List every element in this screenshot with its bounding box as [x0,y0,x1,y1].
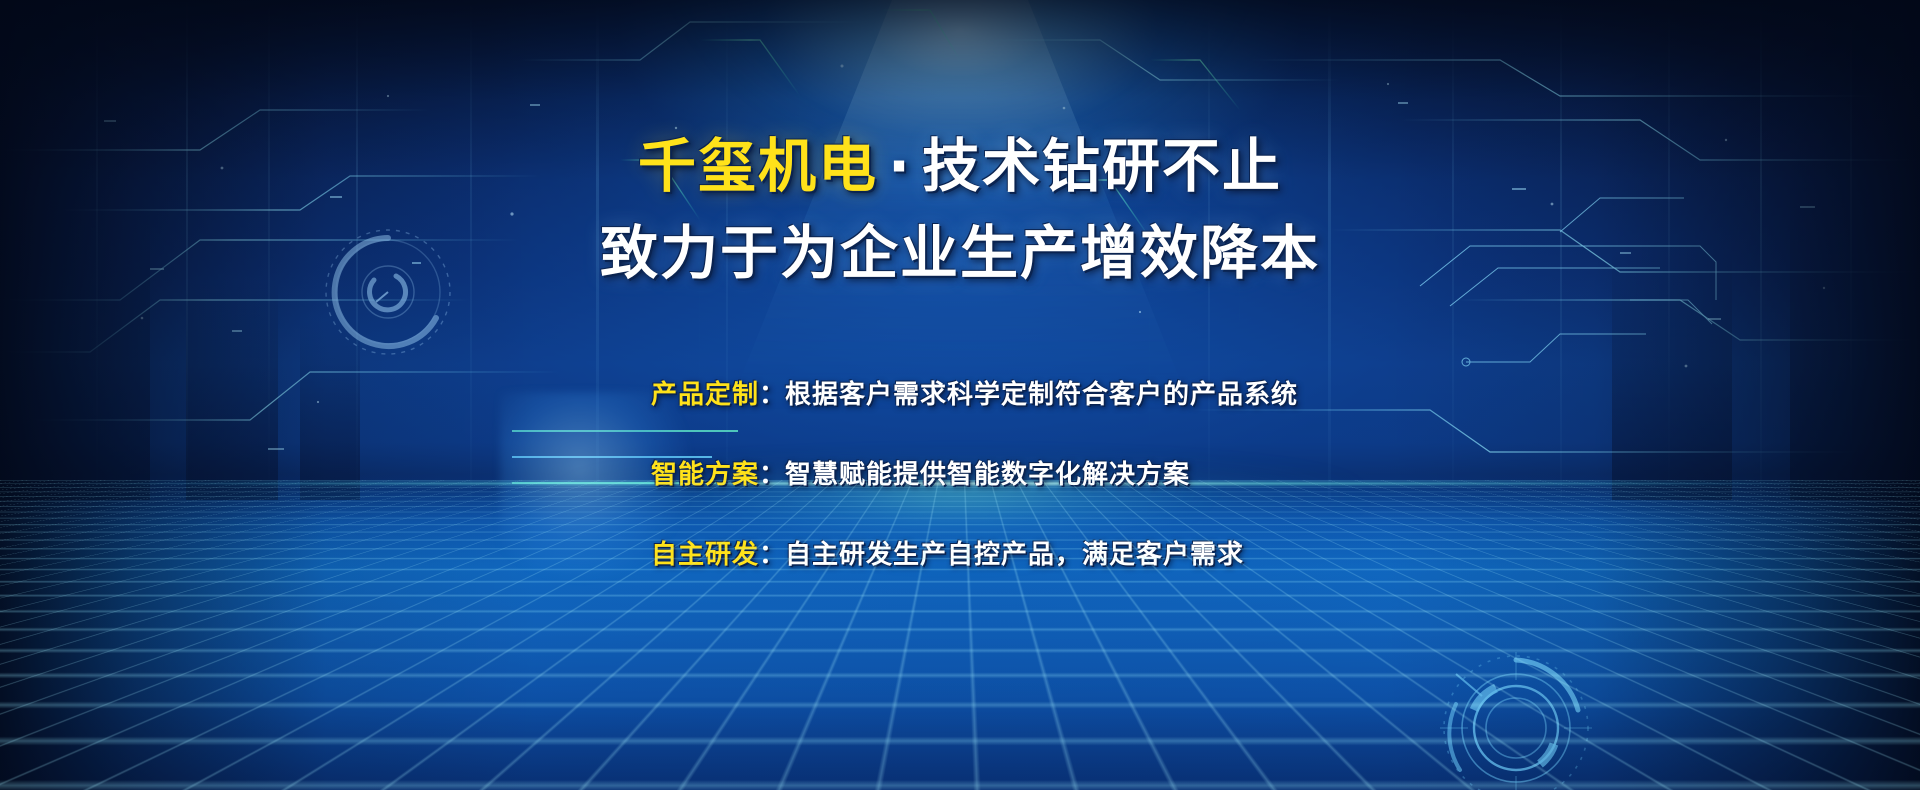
headline-primary: 千玺机电·技术钻研不止 [0,137,1920,195]
feature-label: 产品定制 [651,374,759,411]
brand-name: 千玺机电 [638,132,878,200]
feature-list: 产品定制 ： 根据客户需求科学定制符合客户的产品系统 智能方案 ： 智慧赋能提供… [0,352,1920,592]
feature-label: 自主研发 [651,534,759,571]
feature-item-independent-rnd: 自主研发 ： 自主研发生产自控产品，满足客户需求 [0,512,1920,592]
feature-description: 智慧赋能提供智能数字化解决方案 [785,454,1190,491]
headline-tagline: 技术钻研不止 [922,132,1282,200]
feature-separator: ： [759,374,785,411]
feature-separator: ： [759,454,785,491]
feature-description: 根据客户需求科学定制符合客户的产品系统 [785,374,1298,411]
hero-banner: 千玺机电·技术钻研不止 致力于为企业生产增效降本 产品定制 ： 根据客户需求科学… [0,0,1920,790]
feature-item-product-customization: 产品定制 ： 根据客户需求科学定制符合客户的产品系统 [0,352,1920,432]
feature-item-smart-solution: 智能方案 ： 智慧赋能提供智能数字化解决方案 [0,432,1920,512]
feature-separator: ： [759,534,785,571]
feature-label: 智能方案 [651,454,759,491]
headline-secondary: 致力于为企业生产增效降本 [0,224,1920,282]
feature-description: 自主研发生产自控产品，满足客户需求 [785,534,1244,571]
headline-separator-dot: · [878,132,922,200]
